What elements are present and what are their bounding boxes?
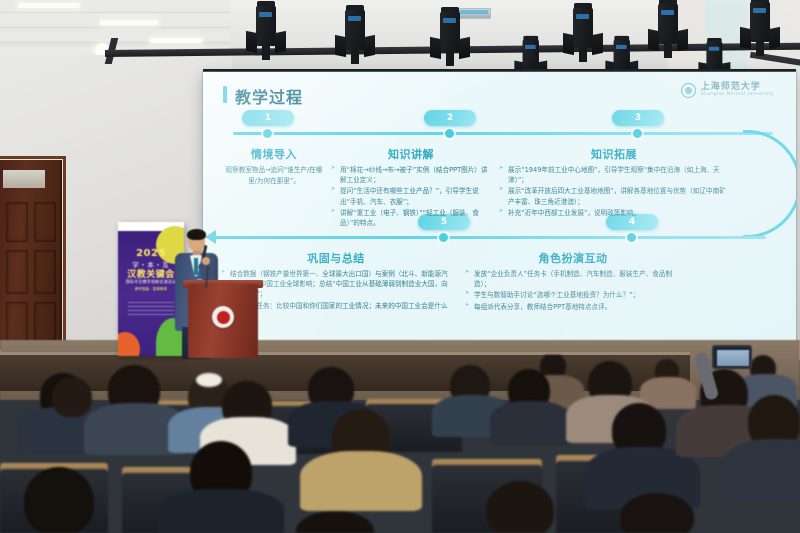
air-vent-louver — [458, 10, 488, 14]
podium — [188, 284, 258, 358]
banner-shape-orange — [118, 332, 140, 356]
ceiling-light — [150, 38, 202, 43]
page-title: 教学过程 — [235, 84, 303, 108]
audience-shoulders — [490, 401, 572, 445]
flow-node — [263, 129, 272, 138]
column-heading: 知识讲解 — [331, 146, 491, 162]
banner-text-block — [128, 302, 174, 318]
column-bullets: 展示“1949年前工业中心地图”，引导学生观察“集中在沿海（如上海、天津）”； … — [499, 165, 729, 218]
door-window — [3, 170, 45, 188]
audience-head — [620, 493, 694, 533]
wooden-door-icon[interactable] — [0, 160, 62, 350]
flow-rail-top — [233, 132, 773, 135]
flow-column-4: 角色扮演互动 发放“企业负责人”任务卡（手机制造、汽车制造、服装生产、食品制造）… — [465, 250, 681, 313]
flow-node — [627, 233, 636, 242]
projection-screen: 教学过程 上海师范大学 Shanghai Normal University 1… — [203, 72, 796, 342]
university-name-en: Shanghai Normal University — [701, 93, 774, 98]
flow-rail-curve — [743, 130, 796, 238]
audience-area — [0, 355, 800, 533]
audience-head — [296, 511, 374, 533]
flow-rail-bottom — [211, 236, 766, 239]
column-bullets: 用“棉花→纱线→布→被子”实例（结合PPT图片）讲解工业定义； 提问“生活中还有… — [331, 165, 491, 228]
smartphone-camera-icon[interactable] — [712, 345, 752, 369]
column-bullets: 发放“企业负责人”任务卡（手机制造、汽车制造、服装生产、食品制造）； 学生与数智… — [465, 269, 681, 312]
audience-shoulders — [300, 451, 422, 511]
bullet-item: 学生与数智助手讨论“选哪个工业基地投资？为什么？”； — [465, 290, 681, 300]
bullet-item: 补充“近年中西部工业发展”，说明政策影响。 — [499, 208, 729, 218]
bullet-item: 提问“生活中还有哪些工业产品？”，引导学生说出“手机、汽车、衣服”； — [331, 186, 491, 206]
column-heading: 知识拓展 — [499, 146, 729, 162]
audience-shoulders — [158, 489, 284, 533]
flow-node — [445, 129, 454, 138]
flow-column-2: 知识讲解 用“棉花→纱线→布→被子”实例（结合PPT图片）讲解工业定义； 提问“… — [331, 146, 491, 229]
ceiling-light — [18, 3, 80, 8]
step-badge-3[interactable]: 3 — [612, 110, 664, 126]
bullet-item: 讲解“重工业（电子、钢铁）”“轻工业（服装、食品）”的特点。 — [331, 208, 491, 228]
flow-column-3: 知识拓展 展示“1949年前工业中心地图”，引导学生观察“集中在沿海（如上海、天… — [499, 146, 729, 219]
flow-column-1: 情境导入 观察教室物品→追问“谁生产/在哪里/为何在那里”。 — [225, 146, 323, 186]
audience-head — [52, 377, 92, 417]
bullet-item: 每组派代表分享，教师结合PPT基地特点点评。 — [465, 302, 681, 312]
step-badge-2[interactable]: 2 — [424, 110, 476, 126]
flow-node — [633, 129, 642, 138]
phone-screen — [717, 350, 749, 366]
bullet-item: 发放“企业负责人”任务卡（手机制造、汽车制造、服装生产、食品制造）； — [465, 269, 681, 289]
bullet-item: 用“棉花→纱线→布→被子”实例（结合PPT图片）讲解工业定义； — [331, 165, 491, 185]
lecture-hall-scene: 教学过程 上海师范大学 Shanghai Normal University 1… — [0, 0, 800, 533]
column-heading: 情境导入 — [225, 146, 323, 162]
hair-bow — [196, 373, 222, 387]
ceiling-light — [100, 20, 158, 25]
university-logo: 上海师范大学 Shanghai Normal University — [681, 83, 774, 98]
speaker-hair — [187, 229, 206, 240]
university-seal-icon — [681, 83, 696, 98]
flow-node — [439, 233, 448, 242]
bullet-item: 展示“改革开放后四大工业基地地图”，讲解各基地位置与优势（如辽中南矿产丰富、珠三… — [499, 186, 729, 206]
column-paragraph: 观察教室物品→追问“谁生产/在哪里/为何在那里”。 — [225, 165, 323, 186]
title-accent-bar — [223, 86, 227, 103]
speaker-hand — [202, 257, 210, 265]
audience-shoulders — [722, 439, 800, 501]
bullet-item: 展示“1949年前工业中心地图”，引导学生观察“集中在沿海（如上海、天津）”； — [499, 165, 729, 185]
step-badge-1[interactable]: 1 — [242, 110, 294, 126]
column-heading: 角色扮演互动 — [465, 250, 681, 266]
audience-head — [24, 467, 94, 533]
column-heading: 巩固与总结 — [221, 250, 451, 266]
audience-head — [486, 481, 554, 533]
university-emblem-icon — [212, 306, 234, 328]
